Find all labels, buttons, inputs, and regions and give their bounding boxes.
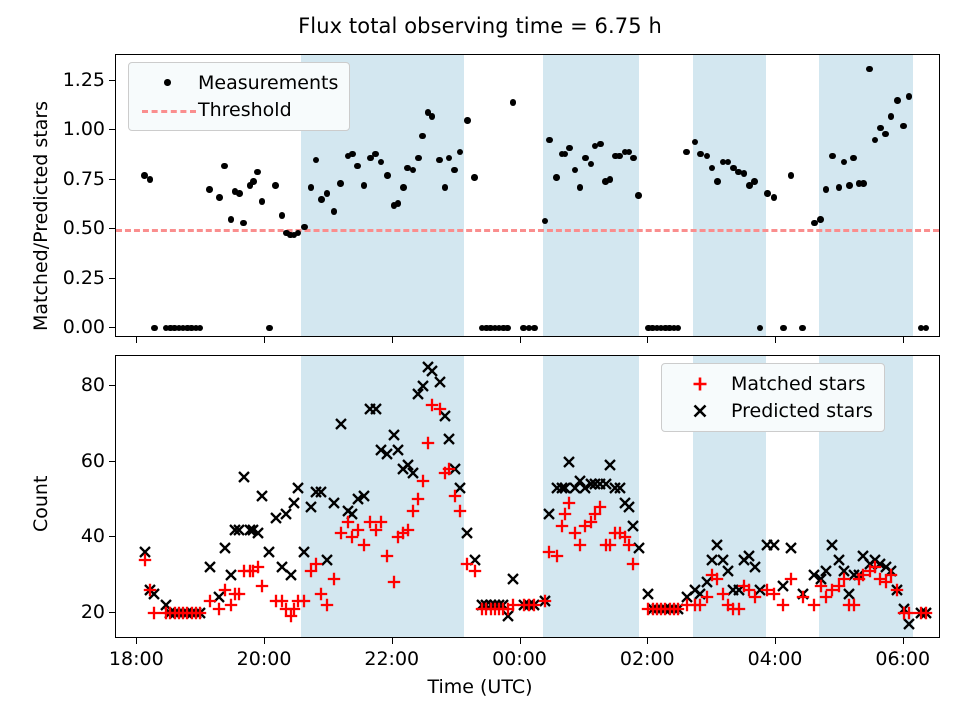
- data-point: [788, 172, 795, 179]
- x-tick-label: 18:00: [109, 648, 164, 670]
- y-tick-mark: [109, 461, 115, 462]
- data-point: [228, 216, 235, 223]
- data-point: [888, 113, 895, 120]
- data-point: [206, 186, 213, 193]
- threshold-line: [116, 229, 939, 232]
- top-panel-y-axis-label: Matched/Predicted stars: [30, 101, 52, 331]
- figure-canvas: Flux total observing time = 6.75 h 0.000…: [0, 0, 960, 720]
- data-point: [451, 167, 458, 174]
- data-point: [923, 325, 930, 332]
- threshold-dash-icon: [140, 99, 198, 121]
- x-tick-mark: [903, 638, 904, 644]
- x-tick-mark: [264, 638, 265, 644]
- data-point: [272, 182, 279, 189]
- data-point: [771, 194, 778, 201]
- data-point: [429, 113, 436, 120]
- x-tick-label: 20:00: [237, 648, 292, 670]
- data-point: [308, 184, 315, 191]
- data-point: [823, 186, 830, 193]
- shaded-band: [693, 55, 766, 336]
- legend-label-matched-stars: Matched stars: [731, 373, 865, 395]
- x-tick-mark: [775, 337, 776, 343]
- x-tick-label: 00:00: [492, 648, 547, 670]
- data-point: [799, 325, 806, 332]
- data-point: [836, 184, 843, 191]
- data-point: [894, 97, 901, 104]
- data-point: [531, 325, 538, 332]
- data-point: [259, 198, 266, 205]
- legend-label-predicted-stars: Predicted stars: [731, 400, 873, 422]
- data-point: [361, 182, 368, 189]
- data-point: [400, 184, 407, 191]
- data-point: [464, 117, 471, 124]
- data-point: [266, 325, 273, 332]
- data-point: [630, 155, 637, 162]
- data-point: [675, 325, 682, 332]
- y-tick-mark: [109, 385, 115, 386]
- data-point: [635, 192, 642, 199]
- data-point: [349, 151, 356, 158]
- data-point: [436, 157, 443, 164]
- data-point: [546, 137, 553, 144]
- y-tick-label: 20: [10, 601, 105, 623]
- y-tick-label: 60: [10, 450, 105, 472]
- y-tick-mark: [109, 129, 115, 130]
- data-point: [236, 190, 243, 197]
- data-point: [250, 178, 257, 185]
- data-point: [850, 155, 857, 162]
- x-tick-mark: [647, 638, 648, 644]
- x-tick-mark: [392, 638, 393, 644]
- data-point: [780, 325, 787, 332]
- data-point: [764, 190, 771, 197]
- data-point: [216, 194, 223, 201]
- data-point: [415, 155, 422, 162]
- x-tick-mark: [520, 337, 521, 343]
- data-point: [846, 182, 853, 189]
- x-tick-label: 22:00: [364, 648, 419, 670]
- legend-label-threshold: Threshold: [198, 99, 292, 121]
- y-tick-label: 1.25: [10, 69, 105, 91]
- y-tick-label: 0.25: [10, 267, 105, 289]
- data-point: [714, 178, 721, 185]
- y-tick-mark: [109, 536, 115, 537]
- data-point: [151, 325, 158, 332]
- x-tick-mark: [392, 337, 393, 343]
- x-tick-mark: [775, 638, 776, 644]
- data-point: [384, 172, 391, 179]
- legend-item-predicted-stars: Predicted stars: [673, 397, 873, 424]
- data-point: [324, 190, 331, 197]
- data-point: [254, 169, 261, 176]
- data-point: [510, 99, 517, 106]
- data-point: [597, 141, 604, 148]
- x-tick-mark: [264, 337, 265, 343]
- data-point: [442, 184, 449, 191]
- data-point: [588, 161, 595, 168]
- y-tick-mark: [109, 228, 115, 229]
- bottom-panel-y-axis-label: Count: [30, 475, 52, 531]
- data-point: [751, 178, 758, 185]
- data-point: [860, 180, 867, 187]
- data-point: [866, 66, 873, 73]
- plus-marker-icon: [673, 373, 731, 395]
- x-axis-label: Time (UTC): [0, 676, 960, 698]
- data-point: [395, 200, 402, 207]
- y-tick-mark: [109, 612, 115, 613]
- x-tick-label: 04:00: [748, 648, 803, 670]
- data-point: [829, 153, 836, 160]
- y-tick-mark: [109, 80, 115, 81]
- x-tick-label: 02:00: [620, 648, 675, 670]
- data-point: [683, 149, 690, 156]
- x-tick-mark: [136, 337, 137, 343]
- shaded-band: [543, 55, 639, 336]
- x-tick-mark: [520, 638, 521, 644]
- page-title: Flux total observing time = 6.75 h: [0, 14, 960, 38]
- legend-item-threshold: Threshold: [140, 96, 338, 123]
- data-point: [697, 151, 704, 158]
- legend-item-measurements: Measurements: [140, 69, 338, 96]
- data-point: [354, 163, 361, 170]
- data-point: [318, 196, 325, 203]
- y-tick-label: 0.50: [10, 217, 105, 239]
- y-tick-label: 0.75: [10, 168, 105, 190]
- data-point: [221, 163, 228, 170]
- data-point: [279, 212, 286, 219]
- x-tick-mark: [136, 638, 137, 644]
- x-tick-mark: [903, 337, 904, 343]
- measurements-dot-icon: [140, 72, 198, 94]
- legend-label-measurements: Measurements: [198, 72, 338, 94]
- data-point: [566, 145, 573, 152]
- data-point: [471, 174, 478, 181]
- data-point: [572, 167, 579, 174]
- y-tick-label: 80: [10, 374, 105, 396]
- y-tick-mark: [109, 278, 115, 279]
- y-tick-label: 0.00: [10, 316, 105, 338]
- data-point: [817, 216, 824, 223]
- data-point: [331, 208, 338, 215]
- data-point: [607, 176, 614, 183]
- y-tick-mark: [109, 327, 115, 328]
- x-marker-icon: [673, 400, 731, 422]
- data-point: [197, 325, 204, 332]
- top-panel-legend: Measurements Threshold: [128, 62, 350, 131]
- y-tick-label: 40: [10, 525, 105, 547]
- data-point: [301, 224, 308, 231]
- x-tick-mark: [647, 337, 648, 343]
- data-point: [582, 155, 589, 162]
- data-point: [553, 174, 560, 181]
- y-tick-mark: [109, 179, 115, 180]
- x-tick-label: 06:00: [875, 648, 930, 670]
- data-point: [504, 325, 511, 332]
- data-point: [372, 151, 379, 158]
- legend-item-matched-stars: Matched stars: [673, 370, 873, 397]
- data-point: [906, 93, 913, 100]
- data-point: [147, 176, 154, 183]
- data-point: [337, 180, 344, 187]
- data-point: [240, 220, 247, 227]
- y-tick-label: 1.00: [10, 118, 105, 140]
- bottom-panel-legend: Matched stars Predicted stars: [661, 363, 885, 432]
